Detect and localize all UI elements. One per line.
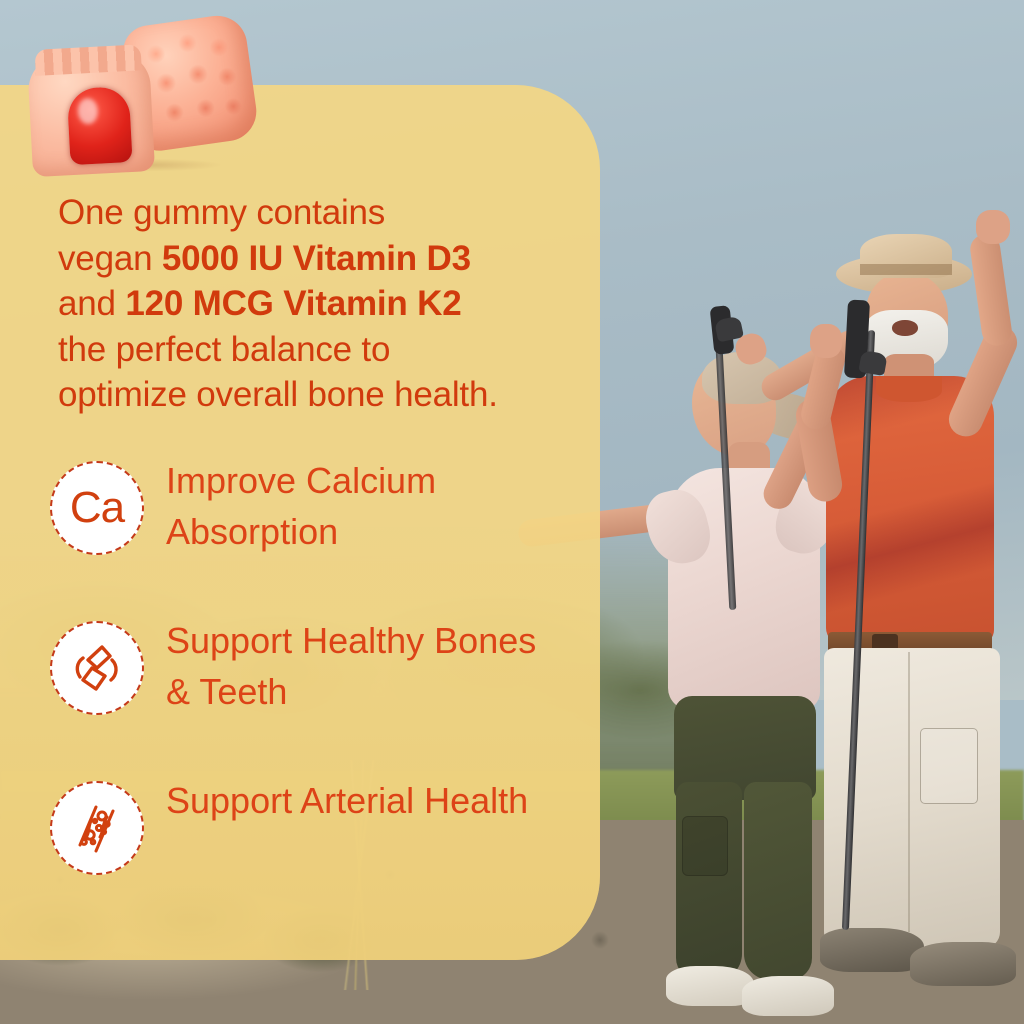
product-infographic-canvas: One gummy contains vegan 5000 IU Vitamin…: [0, 0, 1024, 1024]
woman-left-shoe: [666, 966, 754, 1006]
headline-line-5: optimize overall bone health.: [58, 375, 498, 414]
man-pant-pleat: [908, 652, 910, 932]
raspberry-gummy-with-red-center: [27, 51, 155, 177]
benefit-label-healthy-bones-teeth: Support Healthy Bones & Teeth: [166, 615, 566, 717]
calcium-ca-icon: Ca: [50, 461, 144, 555]
benefits-list: Ca Improve Calcium Absorption: [50, 450, 570, 930]
headline-line-1: One gummy contains: [58, 193, 385, 232]
headline-text: One gummy contains vegan 5000 IU Vitamin…: [58, 190, 548, 418]
gummy-product-shot: [22, 14, 262, 174]
man-right-hand: [810, 324, 842, 358]
headline-line-4: the perfect balance to: [58, 330, 390, 369]
man-left-forearm: [968, 232, 1013, 347]
senior-man-hiker: [780, 228, 1024, 988]
man-right-shoe: [910, 942, 1016, 986]
man-hat-band: [860, 264, 952, 275]
man-polo-collar: [876, 376, 942, 402]
calcium-ca-icon-label: Ca: [70, 486, 124, 530]
man-cargo-pocket: [920, 728, 978, 804]
artery-plaque-icon: [50, 781, 144, 875]
woman-cargo-pocket: [682, 816, 728, 876]
man-left-hand: [976, 210, 1010, 244]
bone-joint-icon: [50, 621, 144, 715]
benefit-item-calcium-absorption: Ca Improve Calcium Absorption: [50, 450, 570, 610]
headline-line-2-prefix: vegan: [58, 239, 162, 278]
gummy-red-core: [67, 86, 133, 165]
benefit-label-arterial-health: Support Arterial Health: [166, 775, 566, 826]
benefit-label-calcium-absorption: Improve Calcium Absorption: [166, 455, 566, 557]
benefit-item-healthy-bones-teeth: Support Healthy Bones & Teeth: [50, 610, 570, 770]
headline-line-3-prefix: and: [58, 284, 125, 323]
man-open-mouth: [892, 320, 918, 336]
man-left-shoe: [820, 928, 924, 972]
headline-line-3-bold: 120 MCG Vitamin K2: [125, 284, 461, 323]
headline-line-2-bold: 5000 IU Vitamin D3: [162, 239, 471, 278]
woman-left-leg: [676, 782, 742, 980]
hiking-couple: [600, 0, 1024, 1024]
benefit-item-arterial-health: Support Arterial Health: [50, 770, 570, 930]
